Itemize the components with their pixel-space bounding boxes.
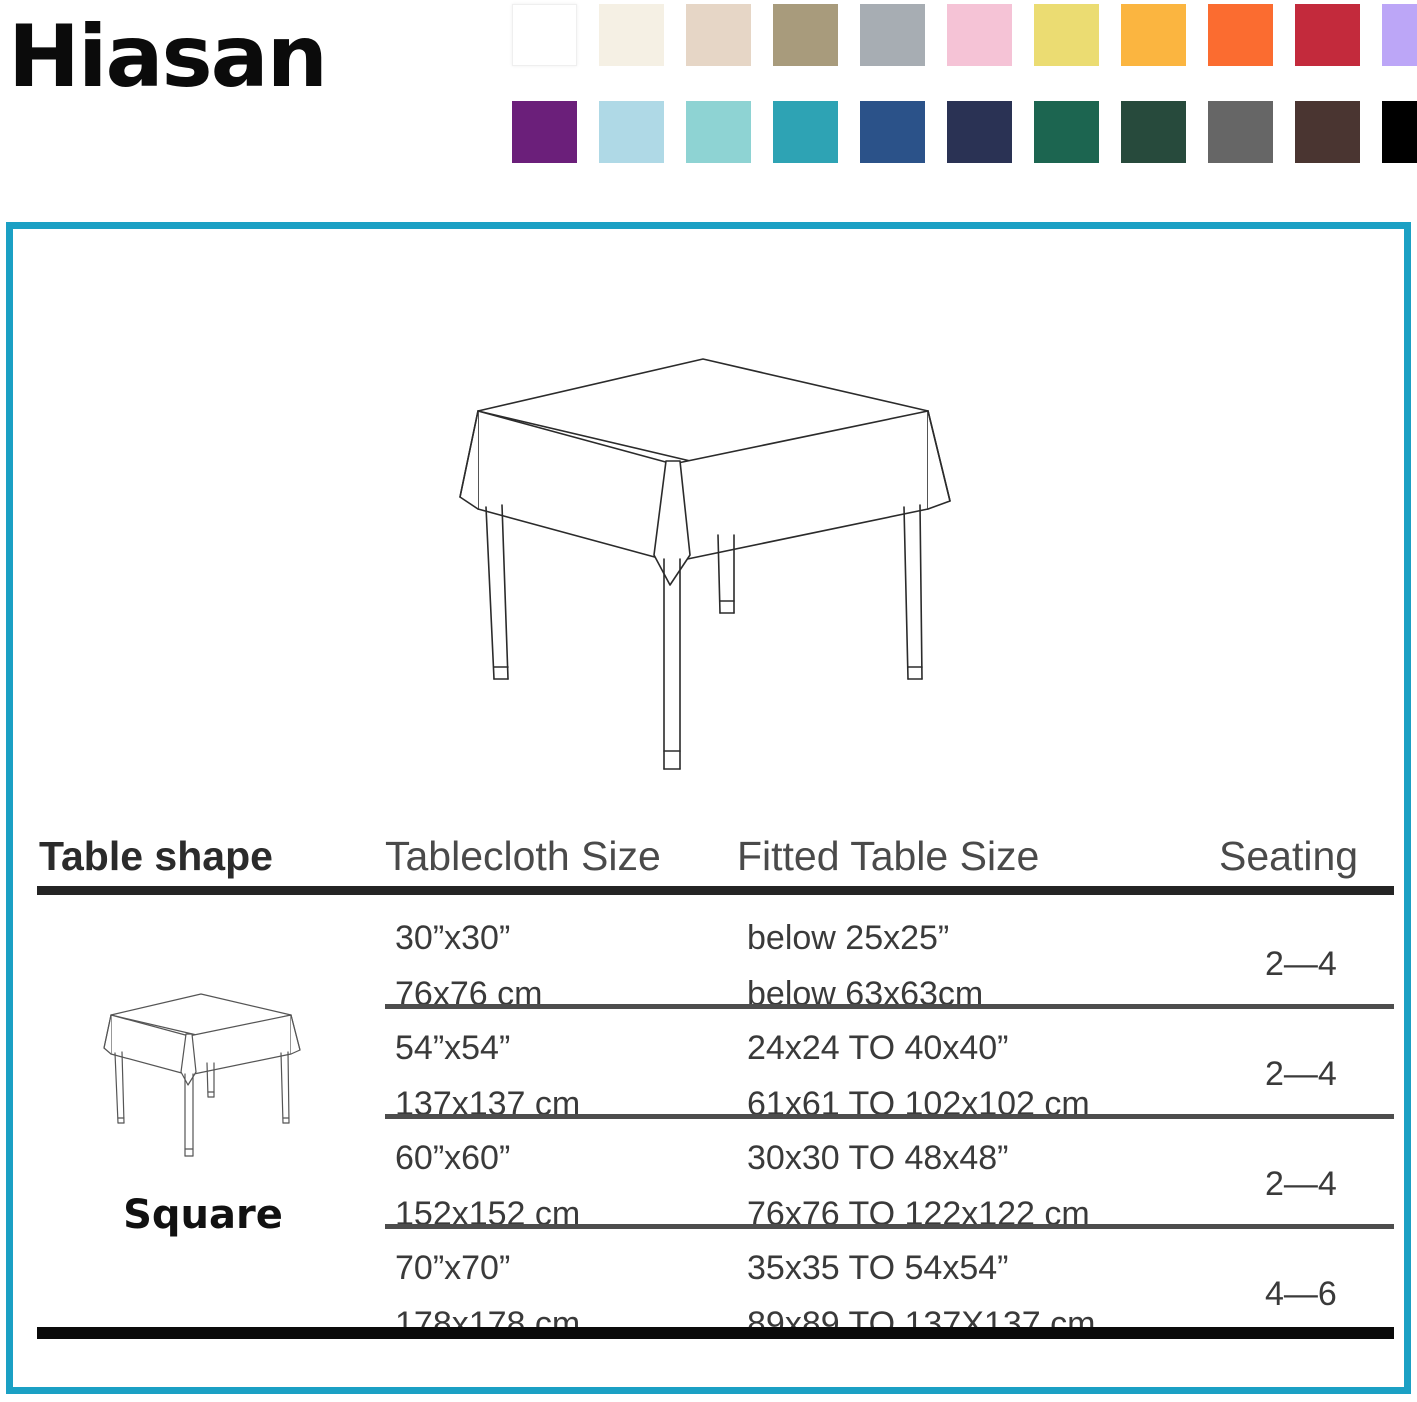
cell-cloth-inches: 30”x30” xyxy=(395,921,510,955)
cell-seating: 4—6 xyxy=(1265,1277,1337,1311)
color-swatch-dark-green[interactable] xyxy=(1121,101,1186,163)
color-swatch-ivory[interactable] xyxy=(599,4,664,66)
column-header-fitted-table-size: Fitted Table Size xyxy=(737,836,1039,877)
swatch-row-1 xyxy=(512,4,1417,66)
table-row: 30”x30” 76x76 cm below 25x25” below 63x6… xyxy=(29,899,1394,1009)
cell-cloth-inches: 54”x54” xyxy=(395,1031,510,1065)
color-swatch-orange[interactable] xyxy=(1208,4,1273,66)
cell-fitted-inches: 30x30 TO 48x48” xyxy=(747,1141,1008,1175)
tablecloth-size-table: Table shape Tablecloth Size Fitted Table… xyxy=(29,807,1394,1339)
header-divider xyxy=(37,886,1394,895)
table-bottom-divider xyxy=(37,1327,1394,1339)
square-table-illustration xyxy=(408,349,998,799)
color-swatch-taupe[interactable] xyxy=(773,4,838,66)
color-swatch-dark-brown[interactable] xyxy=(1295,101,1360,163)
column-header-table-shape: Table shape xyxy=(39,836,273,877)
size-guide-panel: Square Table shape Tablecloth Size Fitte… xyxy=(6,222,1411,1394)
color-swatch-beige[interactable] xyxy=(686,4,751,66)
color-swatch-red[interactable] xyxy=(1295,4,1360,66)
cell-fitted-inches: below 25x25” xyxy=(747,921,949,955)
color-swatch-white[interactable] xyxy=(512,4,577,66)
color-swatch-charcoal-gray[interactable] xyxy=(1208,101,1273,163)
brand-logo: Hiasan xyxy=(8,14,326,100)
color-swatch-yellow[interactable] xyxy=(1034,4,1099,66)
color-swatch-lavender[interactable] xyxy=(1382,4,1417,66)
table-row: 54”x54” 137x137 cm 24x24 TO 40x40” 61x61… xyxy=(29,1009,1394,1119)
color-swatch-purple[interactable] xyxy=(512,101,577,163)
color-swatch-black[interactable] xyxy=(1382,101,1417,163)
cell-cloth-inches: 70”x70” xyxy=(395,1251,510,1285)
table-row: 60”x60” 152x152 cm 30x30 TO 48x48” 76x76… xyxy=(29,1119,1394,1229)
cell-seating: 2—4 xyxy=(1265,1167,1337,1201)
color-swatch-emerald[interactable] xyxy=(1034,101,1099,163)
color-swatch-denim-blue[interactable] xyxy=(860,101,925,163)
cell-fitted-inches: 35x35 TO 54x54” xyxy=(747,1251,1008,1285)
color-swatch-light-blue[interactable] xyxy=(599,101,664,163)
color-swatch-pink[interactable] xyxy=(947,4,1012,66)
table-header-row: Table shape Tablecloth Size Fitted Table… xyxy=(29,807,1394,877)
column-header-tablecloth-size: Tablecloth Size xyxy=(385,836,661,877)
column-header-seating: Seating xyxy=(1219,836,1358,877)
swatch-row-2 xyxy=(512,101,1417,163)
color-swatch-gold[interactable] xyxy=(1121,4,1186,66)
color-swatch-gray[interactable] xyxy=(860,4,925,66)
color-swatch-navy[interactable] xyxy=(947,101,1012,163)
table-body: 30”x30” 76x76 cm below 25x25” below 63x6… xyxy=(29,899,1394,1339)
color-swatch-teal[interactable] xyxy=(773,101,838,163)
color-swatch-panel xyxy=(512,0,1412,175)
cell-seating: 2—4 xyxy=(1265,947,1337,981)
cell-seating: 2—4 xyxy=(1265,1057,1337,1091)
header-bar: Hiasan xyxy=(0,0,1417,200)
table-row: 70”x70” 178x178 cm 35x35 TO 54x54” 89x89… xyxy=(29,1229,1394,1339)
color-swatch-aqua[interactable] xyxy=(686,101,751,163)
cell-cloth-inches: 60”x60” xyxy=(395,1141,510,1175)
cell-fitted-inches: 24x24 TO 40x40” xyxy=(747,1031,1008,1065)
